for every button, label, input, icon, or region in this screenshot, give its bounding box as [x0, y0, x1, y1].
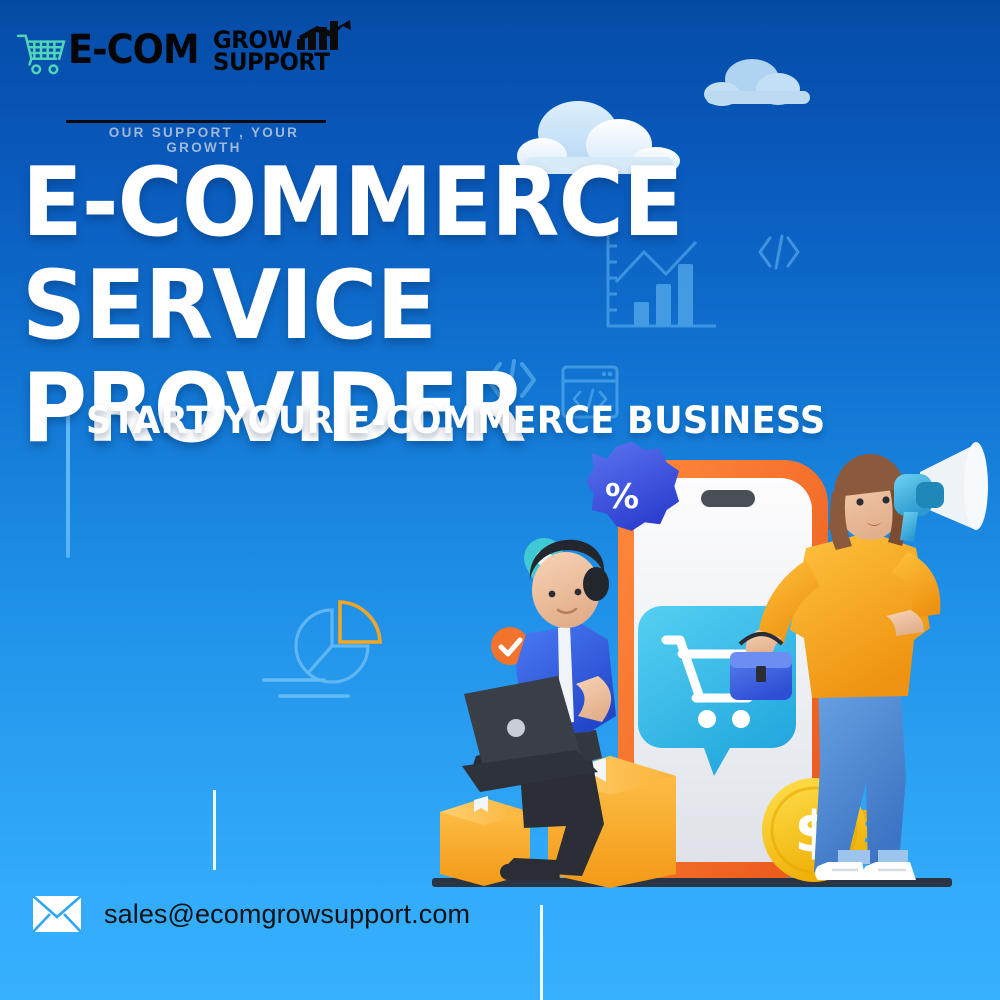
growth-arrow-icon [297, 20, 353, 50]
logo-support-text: SUPPORT [213, 51, 330, 73]
logo-wordmark-primary: E-COM [68, 28, 199, 72]
speed-lines-icon [262, 672, 352, 706]
shopping-cart-icon [16, 32, 66, 76]
ecommerce-3d-illustration: % [418, 438, 990, 908]
pie-chart-icon [280, 596, 385, 696]
logo-divider [66, 120, 326, 123]
discount-badge-label: % [605, 477, 639, 517]
megaphone-icon [894, 442, 988, 542]
cloud-small-icon [700, 58, 816, 108]
envelope-icon [32, 895, 82, 933]
contact-info[interactable]: sales@ecomgrowsupport.com [32, 895, 470, 933]
tick-mark-left [213, 790, 216, 870]
tick-mark-bottom [540, 905, 543, 1000]
contact-email[interactable]: sales@ecomgrowsupport.com [104, 899, 470, 930]
headline-line-1: E-COMMERCE [22, 152, 920, 255]
logo-wordmark-secondary: GROW SUPPORT [213, 29, 336, 73]
brand-logo[interactable]: E-COM GROW SUPPORT OUR SUPPORT , YOUR GR… [16, 28, 336, 116]
promotional-banner: E-COM GROW SUPPORT OUR SUPPORT , YOUR GR… [0, 0, 1000, 1000]
